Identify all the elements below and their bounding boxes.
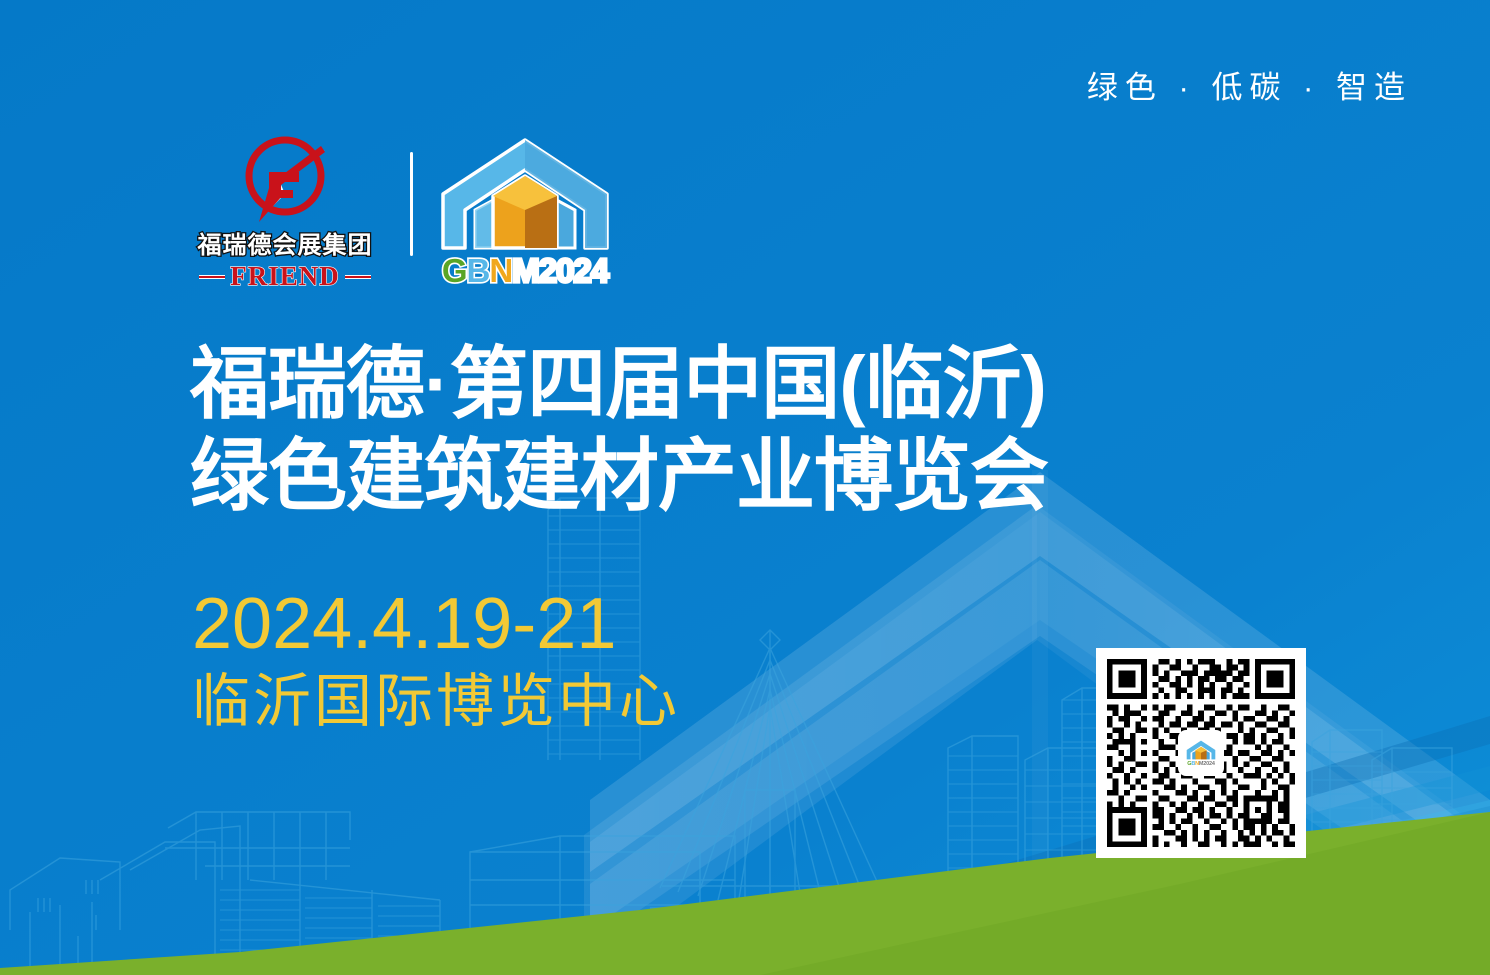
gbnm-wordmark: GBNM2024 [442,254,608,287]
rule-right-icon [345,275,371,279]
gbnm-house-building-icon [439,136,611,252]
exhibition-promo-banner: 绿色 · 低碳 · 智造 福瑞德会展集团 FRIEND [0,0,1490,975]
event-title-line-1: 福瑞德·第四届中国(临沂) [190,338,1048,430]
friend-chinese-name: 福瑞德会展集团 [198,234,373,258]
gbnm-letter-b: B [467,252,490,289]
logo-divider [410,152,413,256]
event-date: 2024.4.19-21 [192,588,680,660]
gbnm-letter-g: G [442,252,467,289]
friend-english-name: FRIEND [230,263,340,290]
gbnm-letter-m: M [512,252,539,289]
gbnm-letter-n: N [489,252,512,289]
gbnm-year: 2024 [539,252,608,289]
event-venue: 临沂国际博览中心 [192,668,680,736]
qr-code[interactable]: GBNM2024 [1096,648,1306,858]
logo-row: 福瑞德会展集团 FRIEND [186,132,611,290]
event-details: 2024.4.19-21 临沂国际博览中心 [192,588,680,736]
friend-english-wrap: FRIEND [186,263,384,290]
gbnm-logo: GBNM2024 [439,136,611,287]
event-title-line-2: 绿色建筑建材产业博览会 [190,430,1048,522]
rule-left-icon [199,275,225,279]
friend-group-logo: 福瑞德会展集团 FRIEND [186,132,384,290]
friend-circular-arrow-emblem [229,132,341,232]
qr-center-logo: GBNM2024 [1178,730,1224,776]
event-title: 福瑞德·第四届中国(临沂) 绿色建筑建材产业博览会 [190,338,1048,521]
qr-center-logo-text: GBNM2024 [1187,762,1214,768]
qr-center-house-icon [1186,739,1216,761]
tagline: 绿色 · 低碳 · 智造 [1087,62,1412,107]
